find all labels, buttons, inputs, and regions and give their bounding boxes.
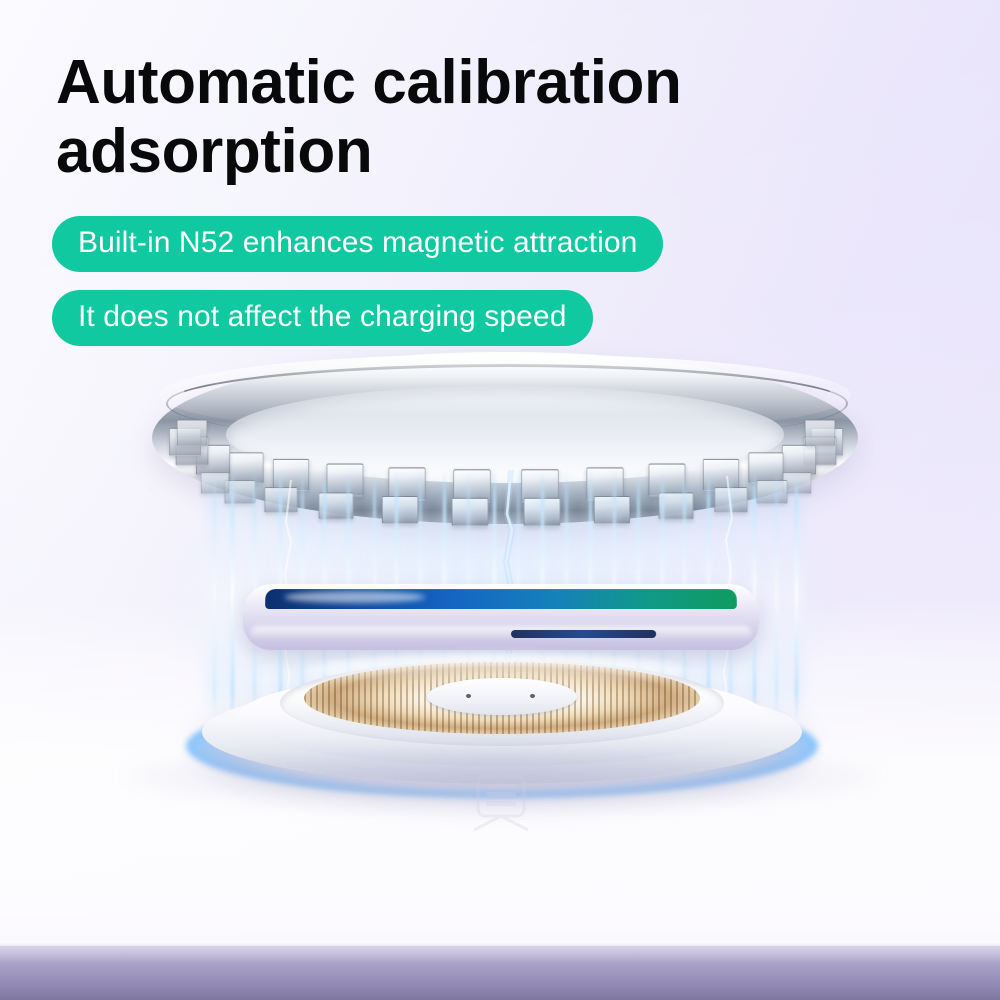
badge-row: It does not affect the charging speed	[52, 290, 663, 346]
feature-badge-2: It does not affect the charging speed	[52, 290, 593, 346]
feature-badges: Built-in N52 enhances magnetic attractio…	[52, 216, 663, 364]
page-title: Automatic calibration adsorption	[56, 48, 916, 187]
platform-surface	[0, 600, 1000, 946]
feature-badge-1: Built-in N52 enhances magnetic attractio…	[52, 216, 663, 272]
product-banner: Automatic calibration adsorption Built-i…	[0, 0, 1000, 1000]
badge-row: Built-in N52 enhances magnetic attractio…	[52, 216, 663, 272]
floor-sheen	[0, 946, 1000, 964]
